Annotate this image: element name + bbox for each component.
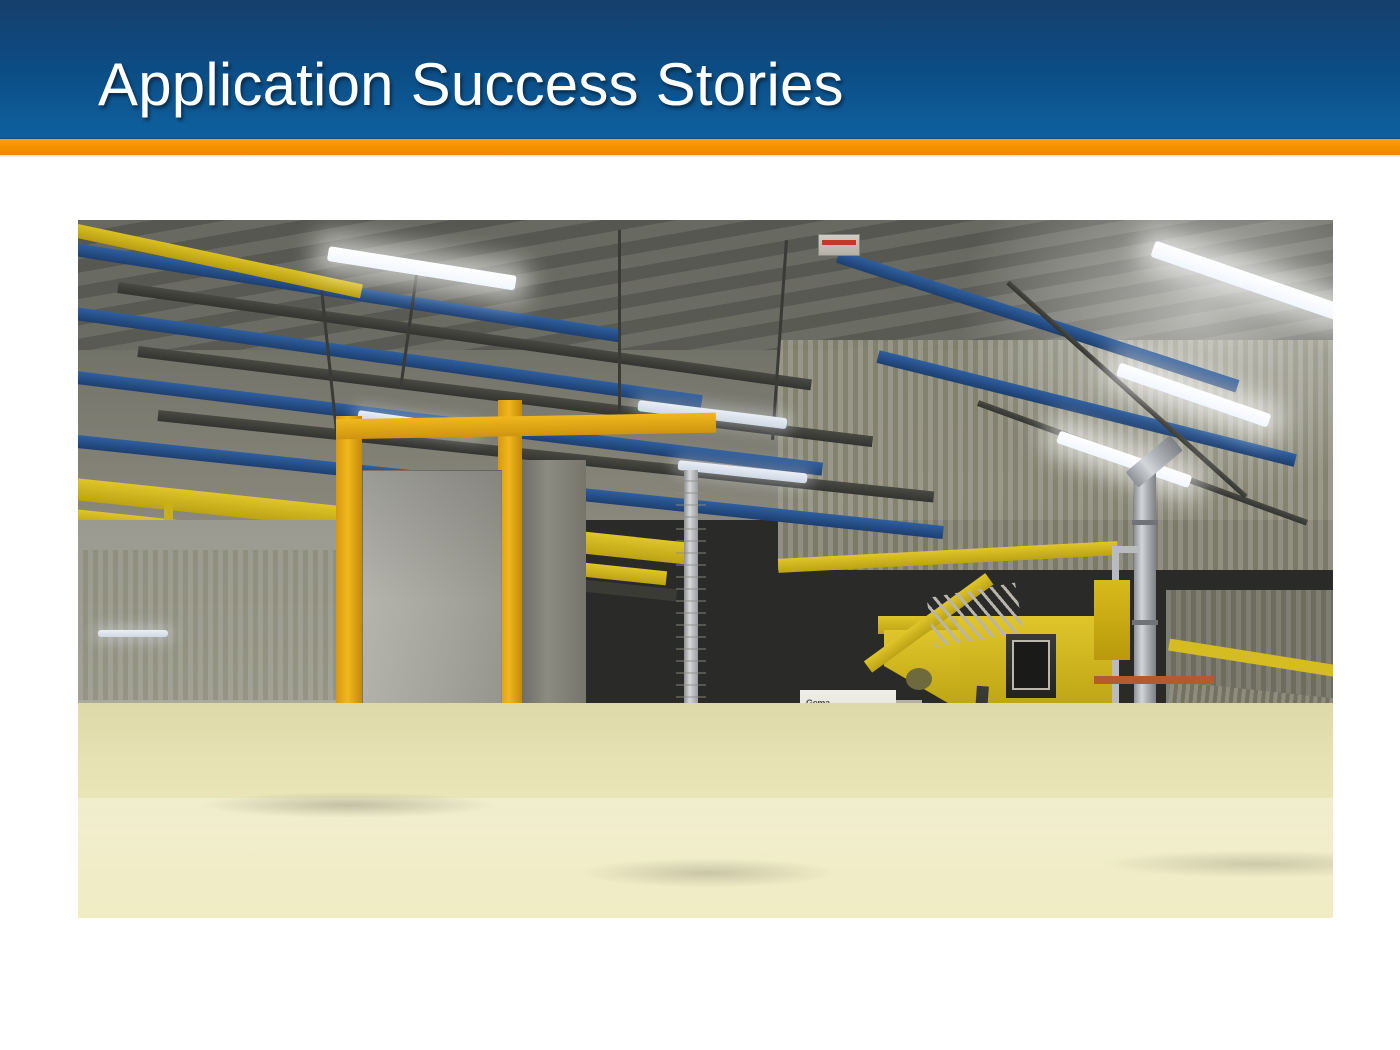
page-title: Application Success Stories: [98, 50, 844, 119]
orange-accent-bar: [0, 138, 1400, 155]
slide-footer: Gema TMHMS / Sweden 2: [0, 930, 1400, 1050]
duct-band-2: [1132, 620, 1158, 625]
gantry-gusset-hole: [906, 668, 932, 690]
right-upper-yellow-block: [1094, 580, 1130, 660]
ceiling-sign: [818, 234, 860, 256]
gantry-machine-window: [1012, 640, 1050, 690]
ceiling-hanger-4: [618, 230, 621, 420]
floor-shadow-centre: [578, 858, 838, 888]
duct-band-1: [1132, 520, 1158, 525]
floor-shadow-left: [198, 792, 498, 818]
floor-shadow-right: [1098, 850, 1333, 878]
duct-conduit-bend: [1112, 546, 1138, 553]
ceiling-sign-stripe: [822, 240, 856, 245]
slide: Application Success Stories: [0, 0, 1400, 1050]
left-wall-panel: [78, 550, 378, 700]
left-wall-lamp: [98, 630, 168, 637]
slide-photo: Gema Gema Gema Op: [78, 220, 1333, 918]
accent-bar-shadow: [0, 155, 1400, 158]
right-red-pipe: [1094, 676, 1214, 684]
slide-header: Application Success Stories: [0, 0, 1400, 138]
